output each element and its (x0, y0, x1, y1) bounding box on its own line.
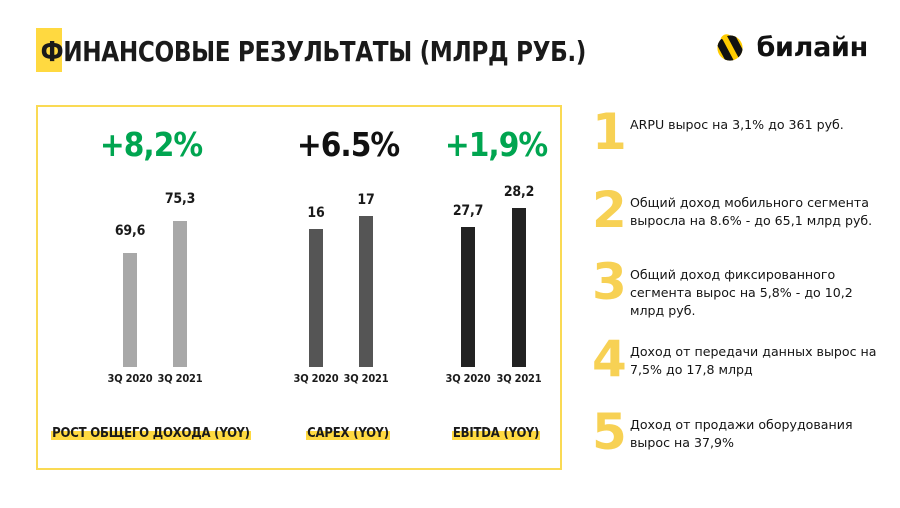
chart-axis-labels: 3Q 2020 3Q 2021 (38, 372, 264, 388)
chart-percent-label: +8,2% (38, 125, 264, 164)
list-item-label: Доход от передачи данных вырос на 7,5% д… (630, 339, 882, 379)
bar-value-label: 75,3 (165, 191, 195, 207)
list-item-number: 4 (592, 339, 630, 380)
bar (359, 216, 373, 367)
axis-tick-label: 3Q 2020 (288, 372, 344, 385)
axis-tick-label: 3Q 2021 (338, 372, 394, 385)
list-item-number: 3 (592, 262, 630, 303)
list-item: 4 Доход от передачи данных вырос на 7,5%… (592, 339, 882, 380)
list-item-label: Доход от продажи оборудования вырос на 3… (630, 412, 882, 452)
charts-panel: +8,2% 69,6 75,3 3Q 2020 3Q 2021 РОСТ ОБЩ… (36, 105, 562, 470)
chart-caption: РОСТ ОБЩЕГО ДОХОДА (YOY) (38, 425, 264, 441)
key-facts-list: 1 ARPU вырос на 3,1% до 361 руб. 2 Общий… (592, 112, 882, 467)
bar-value-label: 69,6 (115, 223, 145, 239)
brand-logo-text: билайн (756, 34, 868, 61)
bar-value-label: 17 (357, 192, 374, 208)
chart-axis-labels: 3Q 2020 3Q 2021 (264, 372, 432, 388)
bar (309, 229, 323, 367)
bar-slot: 27,7 (440, 167, 496, 367)
list-item-label: ARPU вырос на 3,1% до 361 руб. (630, 112, 882, 134)
bar (123, 253, 137, 367)
bar-slot: 69,6 (102, 167, 158, 367)
chart-capex: +6.5% 16 17 3Q 2020 3Q 2021 CAPEX (YOY) (264, 107, 432, 472)
axis-tick-label: 3Q 2020 (440, 372, 496, 385)
axis-tick-label: 3Q 2020 (102, 372, 158, 385)
list-item: 5 Доход от продажи оборудования вырос на… (592, 412, 882, 453)
chart-axis-labels: 3Q 2020 3Q 2021 (432, 372, 560, 388)
chart-caption: CAPEX (YOY) (264, 425, 432, 441)
bar (461, 227, 475, 367)
slide-root: ФИНАНСОВЫЕ РЕЗУЛЬТАТЫ (МЛРД РУБ.) (0, 0, 900, 508)
bar-slot: 28,2 (491, 167, 547, 367)
chart-caption: EBITDA (YOY) (432, 425, 560, 441)
brand-logo: билайн (713, 30, 868, 64)
list-item-number: 5 (592, 412, 630, 453)
slide-header: ФИНАНСОВЫЕ РЕЗУЛЬТАТЫ (МЛРД РУБ.) (0, 0, 900, 95)
chart-plot-area: 16 17 (264, 167, 432, 367)
bar-slot: 75,3 (152, 167, 208, 367)
chart-caption-text: CAPEX (YOY) (306, 425, 390, 440)
title-text: ФИНАНСОВЫЕ РЕЗУЛЬТАТЫ (МЛРД РУБ.) (36, 35, 586, 68)
chart-caption-text: EBITDA (YOY) (452, 425, 540, 440)
bar-slot: 16 (288, 167, 344, 367)
list-item-number: 1 (592, 112, 630, 153)
chart-revenue-growth: +8,2% 69,6 75,3 3Q 2020 3Q 2021 РОСТ ОБЩ… (38, 107, 264, 472)
bar (512, 208, 526, 367)
bar (173, 221, 187, 367)
chart-percent-label: +6.5% (264, 125, 432, 164)
list-item: 1 ARPU вырос на 3,1% до 361 руб. (592, 112, 882, 153)
bar-value-label: 28,2 (504, 184, 534, 200)
chart-ebitda: +1,9% 27,7 28,2 3Q 2020 3Q 2021 EBITDA (… (432, 107, 560, 472)
axis-tick-label: 3Q 2021 (152, 372, 208, 385)
list-item-label: Общий доход фиксированного сегмента выро… (630, 262, 882, 320)
chart-percent-label: +1,9% (432, 125, 560, 164)
list-item-number: 2 (592, 190, 630, 231)
list-item: 2 Общий доход мобильного сегмента выросл… (592, 190, 882, 231)
axis-tick-label: 3Q 2021 (491, 372, 547, 385)
beeline-bee-logo-icon (713, 30, 747, 64)
page-title: ФИНАНСОВЫЕ РЕЗУЛЬТАТЫ (МЛРД РУБ.) (36, 30, 634, 72)
list-item: 3 Общий доход фиксированного сегмента вы… (592, 262, 882, 320)
chart-plot-area: 27,7 28,2 (432, 167, 560, 367)
bar-slot: 17 (338, 167, 394, 367)
bar-value-label: 16 (307, 205, 324, 221)
chart-plot-area: 69,6 75,3 (38, 167, 264, 367)
bar-value-label: 27,7 (453, 203, 483, 219)
list-item-label: Общий доход мобильного сегмента выросла … (630, 190, 882, 230)
chart-caption-text: РОСТ ОБЩЕГО ДОХОДА (YOY) (51, 425, 251, 440)
